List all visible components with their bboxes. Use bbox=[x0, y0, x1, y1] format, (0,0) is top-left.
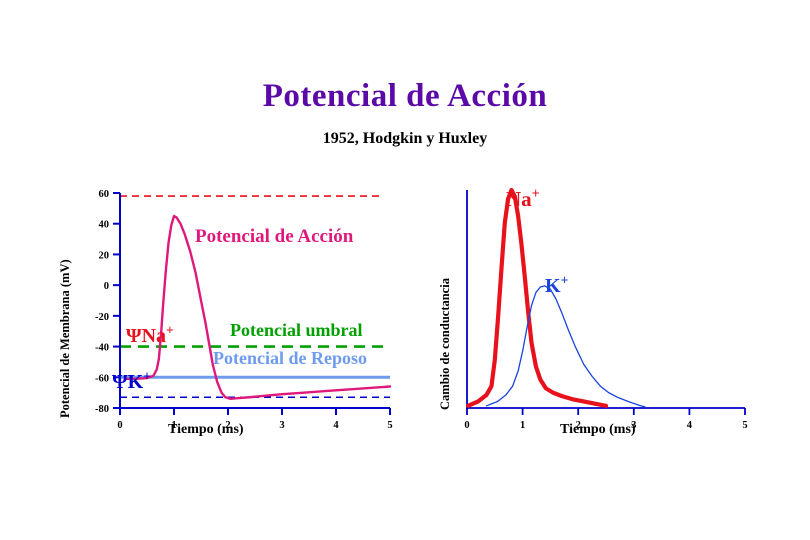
left-y-tick-label: 40 bbox=[99, 220, 110, 231]
right-x-tick-label: 1 bbox=[520, 420, 525, 431]
left-x-tick-label: 5 bbox=[387, 420, 392, 431]
page-subtitle: 1952, Hodgkin y Huxley bbox=[0, 130, 810, 148]
left-y-tick-label: 0 bbox=[104, 281, 109, 292]
ena-equilibrium-label: ΨNa+ bbox=[126, 325, 174, 348]
threshold-potential-label: Potencial umbral bbox=[230, 320, 363, 341]
left-y-tick-label: -20 bbox=[95, 312, 109, 323]
left-y-tick-label: -60 bbox=[95, 373, 109, 384]
sodium-conductance-curve bbox=[468, 190, 606, 406]
right-chart-x-axis-label: Tiempo (ms) bbox=[560, 422, 636, 438]
conductance-chart: Cambio de conductancia 012345 Tiempo (ms… bbox=[430, 160, 775, 440]
page-title: Potencial de Acción bbox=[0, 78, 810, 115]
left-y-tick-label: 20 bbox=[99, 250, 110, 261]
conductance-plot: 012345 bbox=[430, 160, 775, 440]
left-x-tick-label: 4 bbox=[333, 420, 339, 431]
membrane-potential-chart: Potencial de Membrana (mV) 6040200-20-40… bbox=[50, 160, 410, 440]
potassium-curve-label: K+ bbox=[545, 275, 568, 298]
right-x-tick-label: 0 bbox=[464, 420, 469, 431]
membrane-potential-plot: 6040200-20-40-60-80012345 bbox=[50, 160, 410, 440]
resting-potential-label: Potencial de Reposo bbox=[213, 348, 367, 369]
potassium-conductance-curve bbox=[486, 286, 644, 407]
right-x-tick-label: 4 bbox=[687, 420, 693, 431]
sodium-curve-label: Na+ bbox=[506, 187, 540, 212]
right-x-tick-label: 5 bbox=[742, 420, 747, 431]
left-chart-x-axis-label: Tiempo (ms) bbox=[168, 422, 244, 438]
left-y-tick-label: -80 bbox=[95, 404, 109, 415]
left-x-tick-label: 3 bbox=[279, 420, 284, 431]
left-y-tick-label: -40 bbox=[95, 343, 109, 354]
slide-canvas: Potencial de Acción 1952, Hodgkin y Huxl… bbox=[0, 0, 810, 540]
ek-equilibrium-label: ΨK+ bbox=[112, 371, 151, 394]
left-x-tick-label: 0 bbox=[117, 420, 122, 431]
action-potential-label: Potencial de Acción bbox=[195, 226, 353, 248]
left-y-tick-label: 60 bbox=[99, 189, 110, 200]
